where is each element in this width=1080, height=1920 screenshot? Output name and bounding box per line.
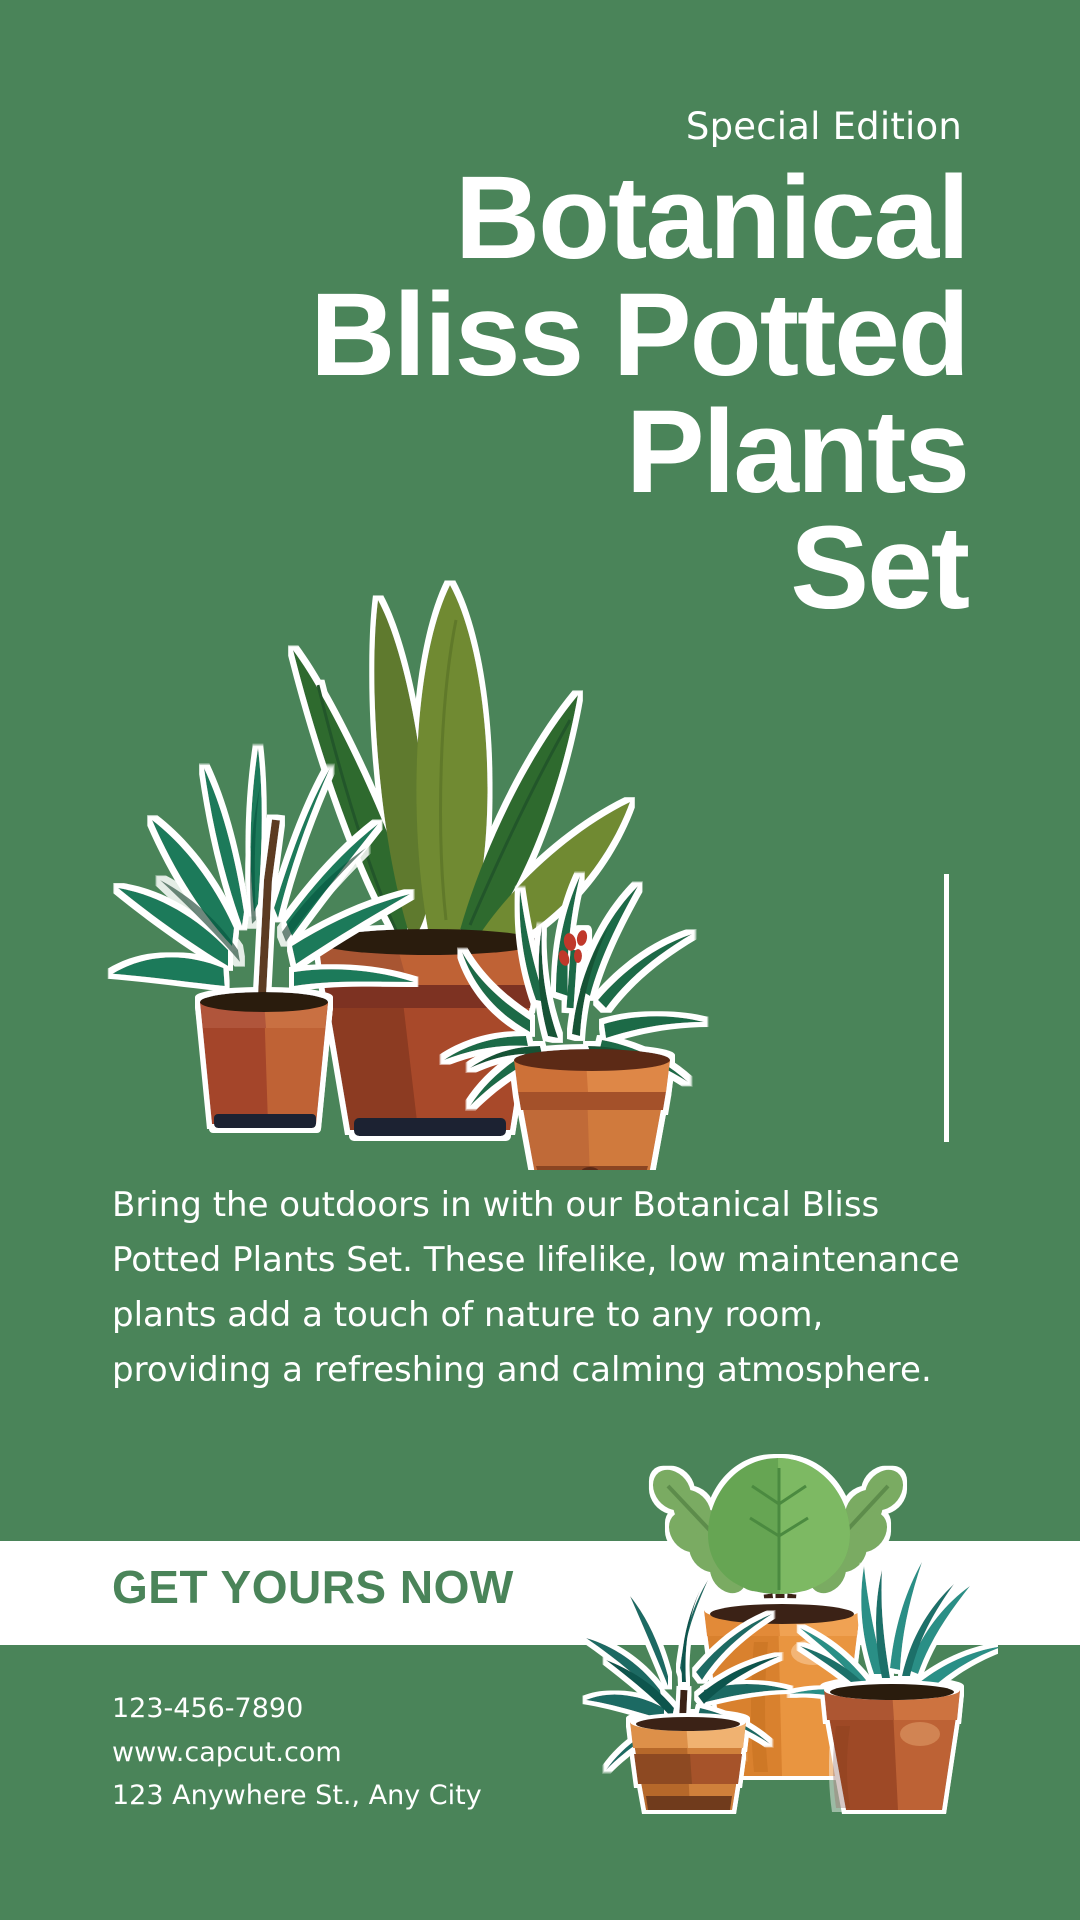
title-line-1: Botanical — [112, 160, 968, 277]
vertical-rule-divider — [944, 874, 949, 1142]
contact-phone[interactable]: 123-456-7890 — [112, 1687, 482, 1731]
special-edition-label: Special Edition — [686, 105, 962, 148]
body-paragraph: Bring the outdoors in with our Botanical… — [112, 1178, 972, 1398]
contact-block: 123-456-7890 www.capcut.com 123 Anywhere… — [112, 1687, 482, 1818]
contact-address: 123 Anywhere St., Any City — [112, 1774, 482, 1818]
title-line-2: Bliss Potted — [112, 277, 968, 394]
get-yours-now-button[interactable]: GET YOURS NOW — [112, 1560, 514, 1614]
three-potted-plants-main-illustration — [78, 480, 778, 1170]
poster-canvas: Special Edition Botanical Bliss Potted P… — [0, 0, 1080, 1920]
contact-website[interactable]: www.capcut.com — [112, 1731, 482, 1775]
three-potted-plants-bottom-illustration — [568, 1424, 998, 1824]
